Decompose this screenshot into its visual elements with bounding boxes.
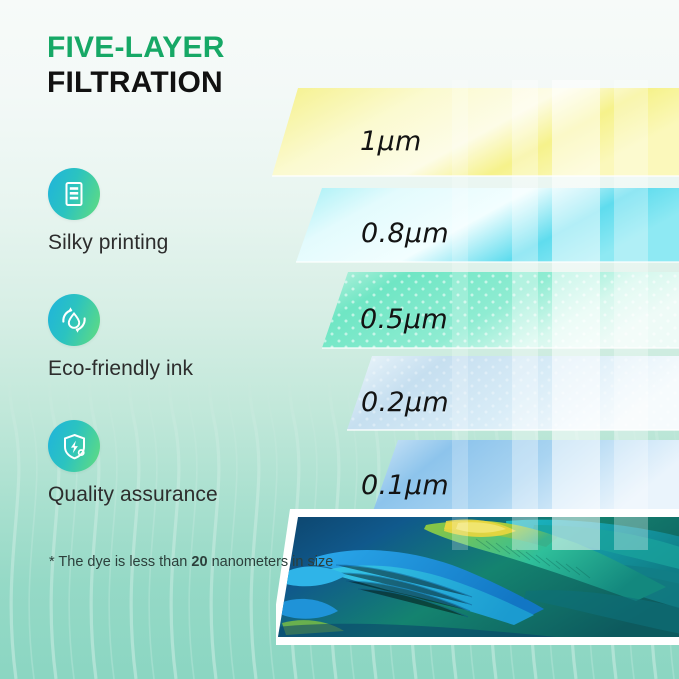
layer-label-0-8um: 0.8μm	[361, 218, 449, 249]
layer-label-1um: 1μm	[360, 126, 422, 157]
footnote: * The dye is less than 20 nanometers in …	[49, 554, 333, 570]
layer-0-8um	[296, 188, 679, 262]
footnote-highlight: 20	[191, 554, 207, 570]
layer-label-0-5um: 0.5μm	[360, 304, 448, 335]
footnote-suffix: nanometers in size	[208, 554, 334, 570]
footnote-prefix: * The dye is less than	[49, 554, 191, 570]
infographic-poster: FIVE-LAYER FILTRATION Silky printing	[0, 0, 679, 679]
layer-label-0-2um: 0.2μm	[361, 387, 449, 418]
macaw-feathers-photo	[276, 495, 679, 645]
layer-label-0-1um: 0.1μm	[361, 470, 449, 501]
layer-1um	[272, 88, 679, 176]
